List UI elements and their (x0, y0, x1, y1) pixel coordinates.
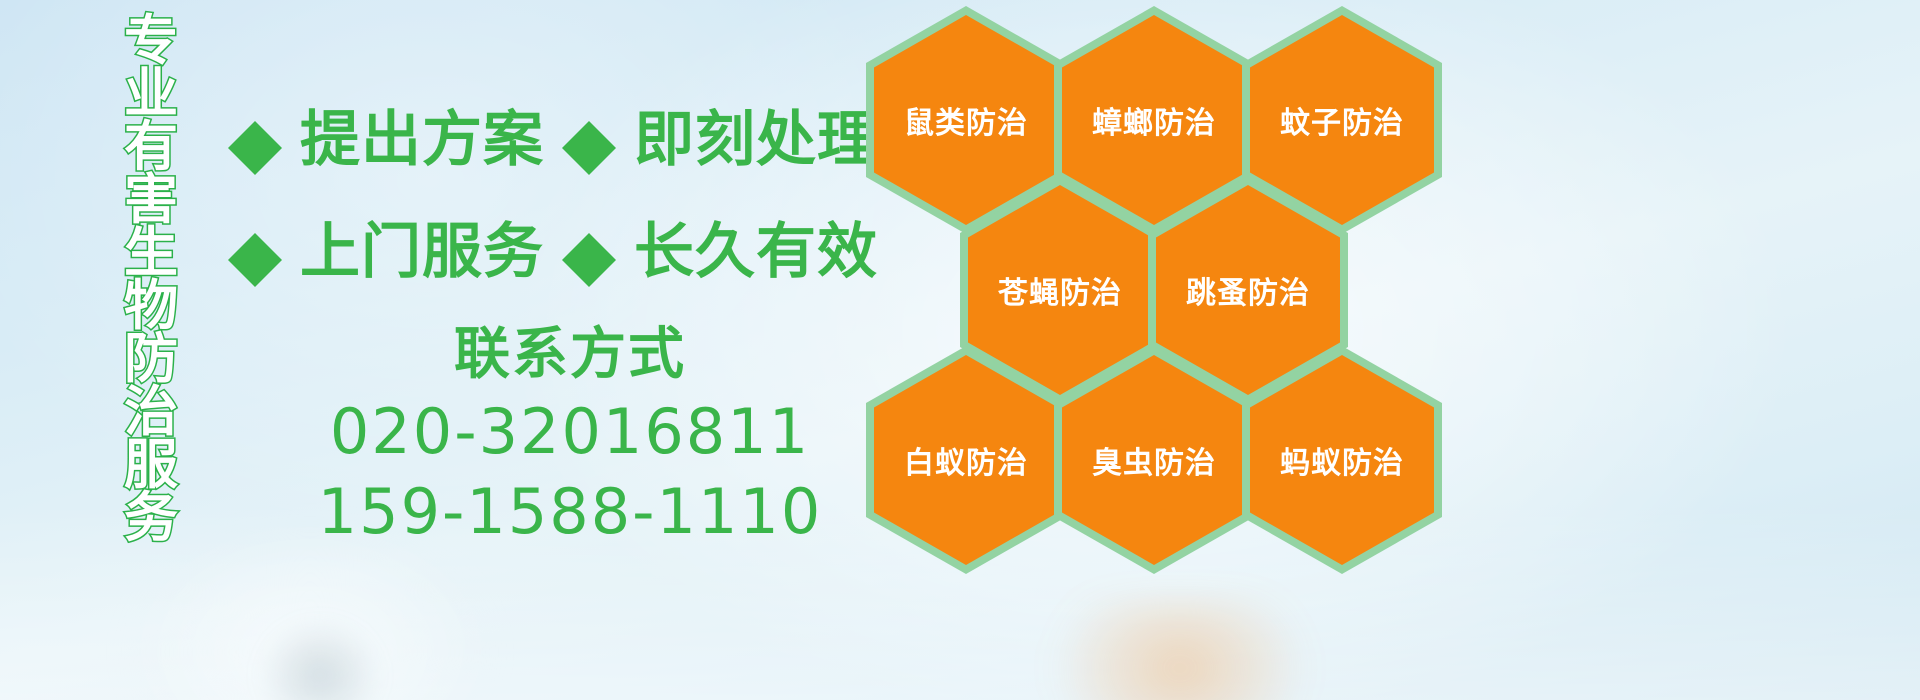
feature-row: 提出方案 即刻处理 (228, 78, 878, 190)
service-label: 蟑螂防治 (1092, 98, 1216, 142)
vertical-headline-char: 业 (124, 67, 178, 120)
vertical-headline-char: 服 (124, 438, 178, 491)
background-blur-grey (260, 620, 380, 700)
service-label: 蚂蚁防治 (1280, 438, 1404, 482)
contact-phone-landline[interactable]: 020-32016811 (260, 392, 880, 472)
background-blur-orange (1050, 600, 1310, 700)
vertical-headline-char: 防 (124, 332, 178, 385)
vertical-headline-char: 有 (124, 120, 178, 173)
vertical-headline-char: 务 (124, 491, 178, 544)
service-label: 蚊子防治 (1280, 98, 1404, 142)
hex-inner: 白蚁防治 (874, 355, 1058, 565)
hex-inner: 臭虫防治 (1062, 355, 1246, 565)
vertical-headline-char: 害 (124, 173, 178, 226)
contact-title: 联系方式 (260, 318, 880, 392)
service-label: 鼠类防治 (904, 98, 1028, 142)
feature-label: 提出方案 (300, 91, 544, 178)
diamond-bullet-icon (562, 94, 616, 148)
vertical-headline-char: 专 (124, 14, 178, 67)
feature-label: 长久有效 (634, 203, 878, 290)
diamond-bullet-icon (562, 206, 616, 260)
pest-control-banner: 专 业 有 害 生 物 防 治 服 务 提出方案 即刻处理 上门服务 (0, 0, 1920, 700)
service-label: 白蚁防治 (904, 438, 1028, 482)
vertical-headline-char: 物 (124, 279, 178, 332)
feature-row: 上门服务 长久有效 (228, 190, 878, 302)
service-label: 苍蝇防治 (998, 268, 1122, 312)
feature-item: 提出方案 (228, 91, 544, 178)
service-label: 臭虫防治 (1092, 438, 1216, 482)
diamond-bullet-icon (228, 206, 282, 260)
contact-block: 联系方式 020-32016811 159-1588-1110 (260, 318, 880, 552)
feature-label: 即刻处理 (634, 91, 878, 178)
service-label: 跳蚤防治 (1186, 268, 1310, 312)
feature-label: 上门服务 (300, 203, 544, 290)
feature-list: 提出方案 即刻处理 上门服务 长久有效 (228, 78, 878, 302)
diamond-bullet-icon (228, 94, 282, 148)
feature-item: 上门服务 (228, 203, 544, 290)
feature-item: 长久有效 (562, 203, 878, 290)
hex-inner: 蚂蚁防治 (1250, 355, 1434, 565)
vertical-headline: 专 业 有 害 生 物 防 治 服 务 (108, 14, 194, 574)
vertical-headline-char: 治 (124, 385, 178, 438)
vertical-headline-char: 生 (124, 226, 178, 279)
feature-item: 即刻处理 (562, 91, 878, 178)
service-hex-grid: 鼠类防治 蟑螂防治 蚊子防治 苍蝇防治 跳蚤防治 白蚁防治 (856, 0, 1496, 580)
contact-phone-mobile[interactable]: 159-1588-1110 (260, 472, 880, 552)
